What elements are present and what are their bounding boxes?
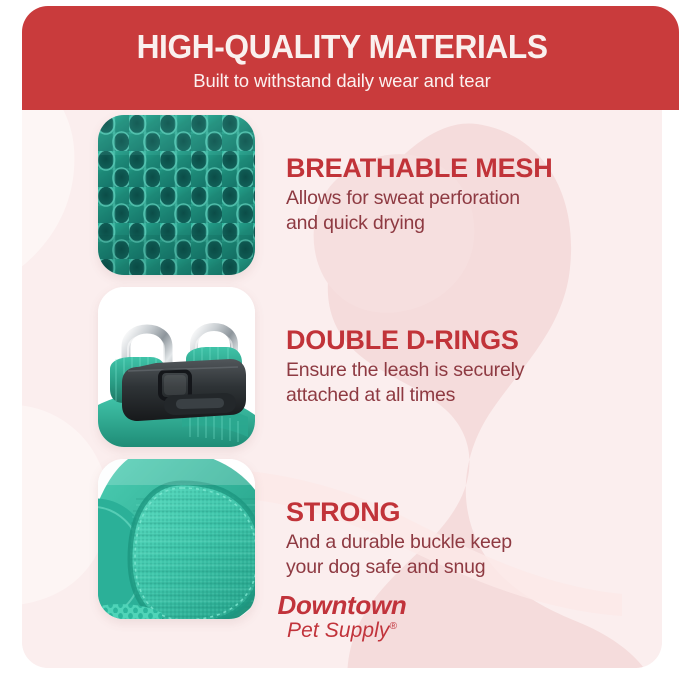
feature-item-double-d-rings: DOUBLE D-RINGS Ensure the leash is secur… (22, 282, 662, 452)
header-banner: HIGH-QUALITY MATERIALS Built to withstan… (22, 6, 679, 110)
feature-description-line: and quick drying (286, 211, 652, 236)
feature-description-line: Ensure the leash is securely (286, 358, 652, 383)
feature-item-breathable-mesh: BREATHABLE MESH Allows for sweat perfora… (22, 110, 662, 280)
feature-description-line: Allows for sweat perforation (286, 186, 652, 211)
brand-logo-line1: Downtown (22, 592, 662, 618)
product-feature-infographic: HIGH-QUALITY MATERIALS Built to withstan… (0, 0, 679, 679)
feature-title: BREATHABLE MESH (286, 154, 652, 184)
feature-description-line: attached at all times (286, 383, 652, 408)
feature-text-strong: STRONG And a durable buckle keep your do… (286, 498, 662, 581)
feature-description-line: And a durable buckle keep (286, 530, 652, 555)
feature-description-line: your dog safe and snug (286, 555, 652, 580)
brand-logo: Downtown Pet Supply® (22, 592, 662, 641)
registered-trademark-icon: ® (390, 621, 397, 632)
feature-list: BREATHABLE MESH Allows for sweat perfora… (22, 110, 662, 590)
brand-logo-line2: Pet Supply® (22, 620, 662, 641)
feature-image-double-d-rings (98, 287, 255, 447)
feature-description: Ensure the leash is securely attached at… (286, 358, 652, 408)
feature-title: STRONG (286, 498, 652, 528)
page-subtitle: Built to withstand daily wear and tear (193, 70, 491, 92)
feature-description: And a durable buckle keep your dog safe … (286, 530, 652, 580)
feature-image-breathable-mesh (98, 115, 255, 275)
feature-text-double-d-rings: DOUBLE D-RINGS Ensure the leash is secur… (286, 326, 662, 409)
page-title: HIGH-QUALITY MATERIALS (136, 30, 547, 65)
feature-title: DOUBLE D-RINGS (286, 326, 652, 356)
feature-text-breathable-mesh: BREATHABLE MESH Allows for sweat perfora… (286, 154, 662, 237)
brand-logo-line2-text: Pet Supply (287, 619, 390, 642)
feature-description: Allows for sweat perforation and quick d… (286, 186, 652, 236)
